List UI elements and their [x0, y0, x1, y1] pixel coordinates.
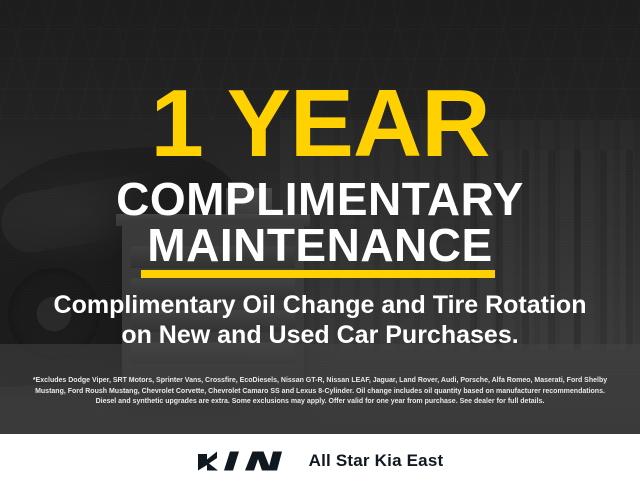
- dealer-name: All Star Kia East: [309, 451, 444, 471]
- kia-logo-icon: [197, 450, 283, 472]
- offer-line-1: Complimentary Oil Change and Tire Rotati…: [54, 291, 587, 319]
- disclaimer-line-2: Mustang, Ford Roush Mustang, Chevrolet C…: [14, 387, 626, 398]
- headline-one-year: 1 YEAR: [0, 76, 640, 172]
- offer-description: Complimentary Oil Change and Tire Rotati…: [0, 290, 640, 350]
- headline-complimentary: COMPLIMENTARY: [0, 176, 640, 222]
- disclaimer-line-1: *Excludes Dodge Viper, SRT Motors, Sprin…: [14, 376, 626, 387]
- banner-content: 1 YEAR COMPLIMENTARY MAINTENANCE Complim…: [0, 0, 640, 434]
- footer-bar: All Star Kia East: [0, 434, 640, 488]
- promotional-banner: 1 YEAR COMPLIMENTARY MAINTENANCE Complim…: [0, 0, 640, 488]
- yellow-divider-bar: [141, 270, 495, 278]
- offer-line-2: on New and Used Car Purchases.: [0, 320, 640, 350]
- footer-brand-group: All Star Kia East: [197, 450, 444, 472]
- headline-maintenance: MAINTENANCE: [0, 222, 640, 268]
- disclaimer-line-3: Diesel and synthetic upgrades are extra.…: [14, 397, 626, 408]
- disclaimer-fine-print: *Excludes Dodge Viper, SRT Motors, Sprin…: [14, 376, 626, 408]
